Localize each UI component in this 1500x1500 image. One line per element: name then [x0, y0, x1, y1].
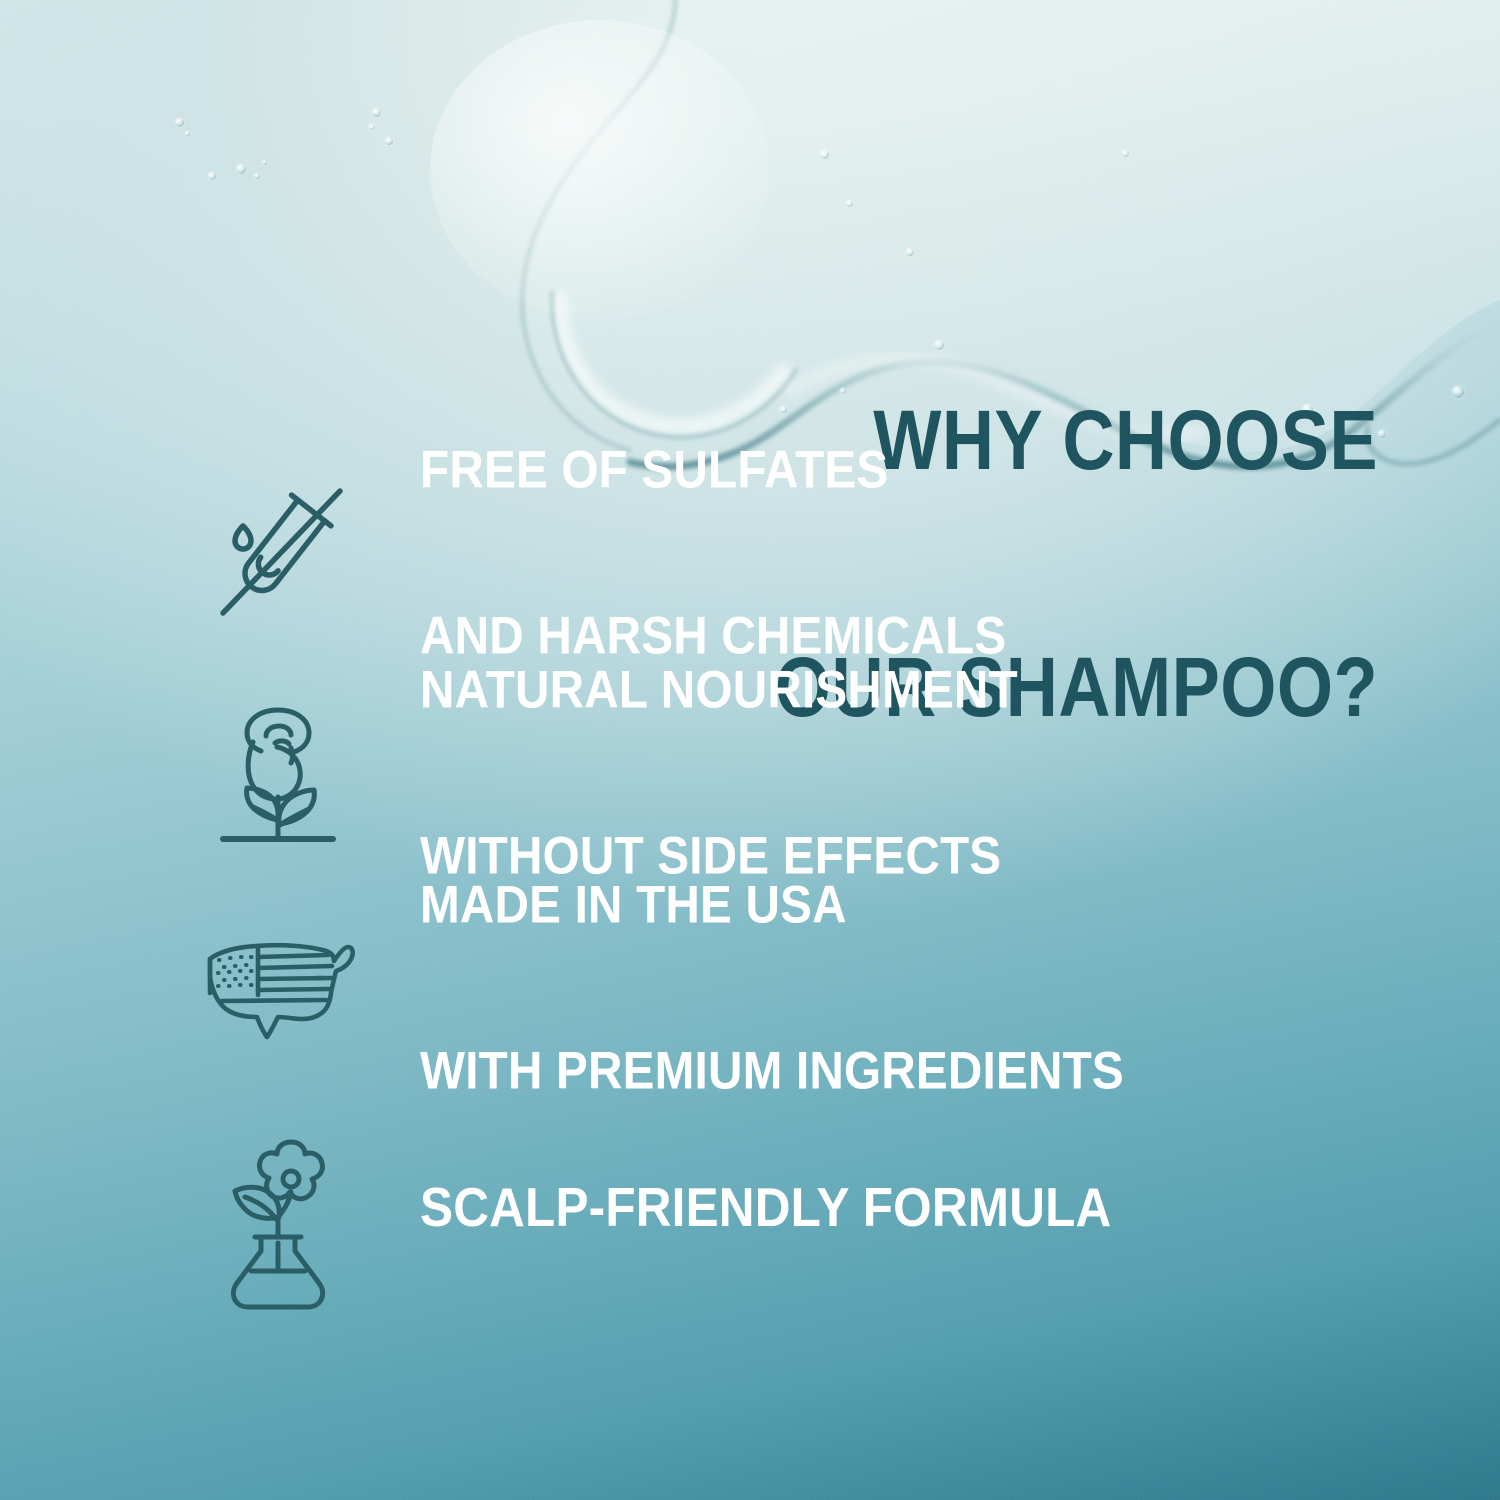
bubble	[846, 200, 853, 207]
bubble	[820, 150, 829, 159]
bubble	[1452, 386, 1464, 398]
usa-flag-map-icon	[198, 908, 358, 1068]
no-test-tube-icon	[198, 473, 358, 633]
bubble	[369, 124, 375, 130]
flask-flower-icon	[198, 1128, 358, 1288]
bubble	[254, 173, 260, 179]
bubble	[185, 131, 190, 136]
feature-item-scalp-friendly: SCALP-FRIENDLY FORMULA	[0, 1128, 1500, 1288]
bubble	[175, 118, 184, 127]
feature-line: FREE OF SULFATES	[420, 443, 1006, 498]
bubble	[208, 172, 216, 180]
feature-text: SCALP-FRIENDLY FORMULA	[420, 1065, 1111, 1351]
feature-item-made-in-usa: MADE IN THE USA WITH PREMIUM INGREDIENTS	[0, 908, 1500, 1068]
rose-plant-icon	[198, 693, 358, 853]
bubble	[236, 164, 246, 174]
feature-list: FREE OF SULFATES AND HARSH CHEMICALS	[0, 478, 1500, 1288]
bubble	[1122, 150, 1129, 157]
bubble	[372, 108, 381, 117]
feature-line: NATURAL NOURISHMENT	[420, 663, 1018, 718]
gel-right-lobe	[1367, 420, 1500, 464]
bubble	[1378, 430, 1386, 438]
bubble	[262, 160, 267, 165]
poster-canvas: WHY CHOOSE OUR SHAMPOO?	[0, 0, 1500, 1500]
feature-line: SCALP-FRIENDLY FORMULA	[420, 1179, 1111, 1236]
bubble	[385, 137, 393, 145]
feature-line: MADE IN THE USA	[420, 878, 1124, 933]
